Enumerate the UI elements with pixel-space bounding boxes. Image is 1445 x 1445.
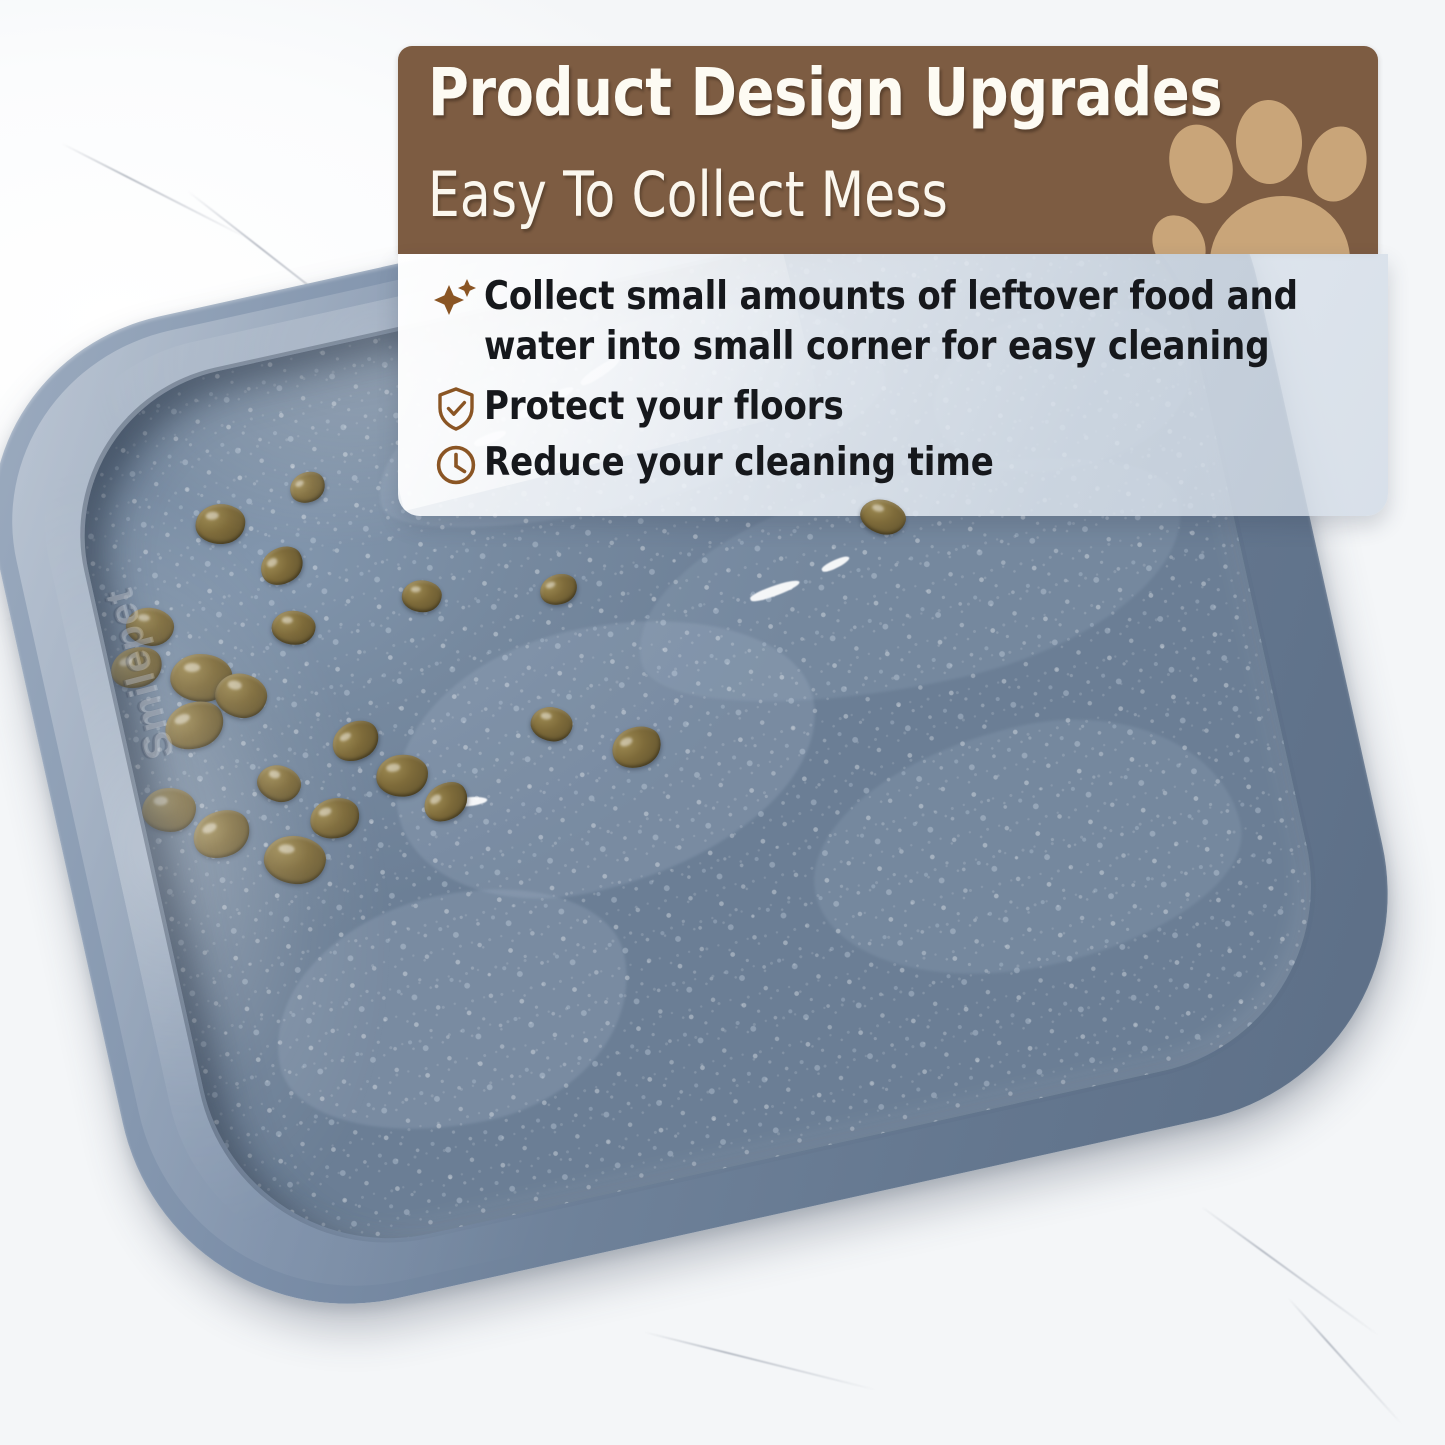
feature-panel: Collect small amounts of leftover food a…: [398, 254, 1388, 516]
banner-subtitle: Easy To Collect Mess: [428, 158, 1265, 231]
sparkle-icon: [428, 272, 484, 322]
shield-check-icon: [428, 382, 484, 432]
feature-text: Collect small amounts of leftover food a…: [484, 272, 1338, 372]
feature-item-collect: Collect small amounts of leftover food a…: [428, 272, 1388, 372]
feature-text: Reduce your cleaning time: [484, 438, 994, 488]
feature-item-reduce-time: Reduce your cleaning time: [428, 438, 1388, 488]
banner-title: Product Design Upgrades: [428, 54, 1302, 131]
feature-list: Collect small amounts of leftover food a…: [398, 254, 1388, 494]
clock-icon: [428, 438, 484, 488]
product-infographic: Smilepet Product Design Upgrades Easy To…: [0, 0, 1445, 1445]
header-banner: Product Design Upgrades Easy To Collect …: [398, 46, 1378, 254]
feature-item-protect: Protect your floors: [428, 382, 1388, 432]
feature-text: Protect your floors: [484, 382, 844, 432]
kibble-piece: [402, 580, 442, 612]
